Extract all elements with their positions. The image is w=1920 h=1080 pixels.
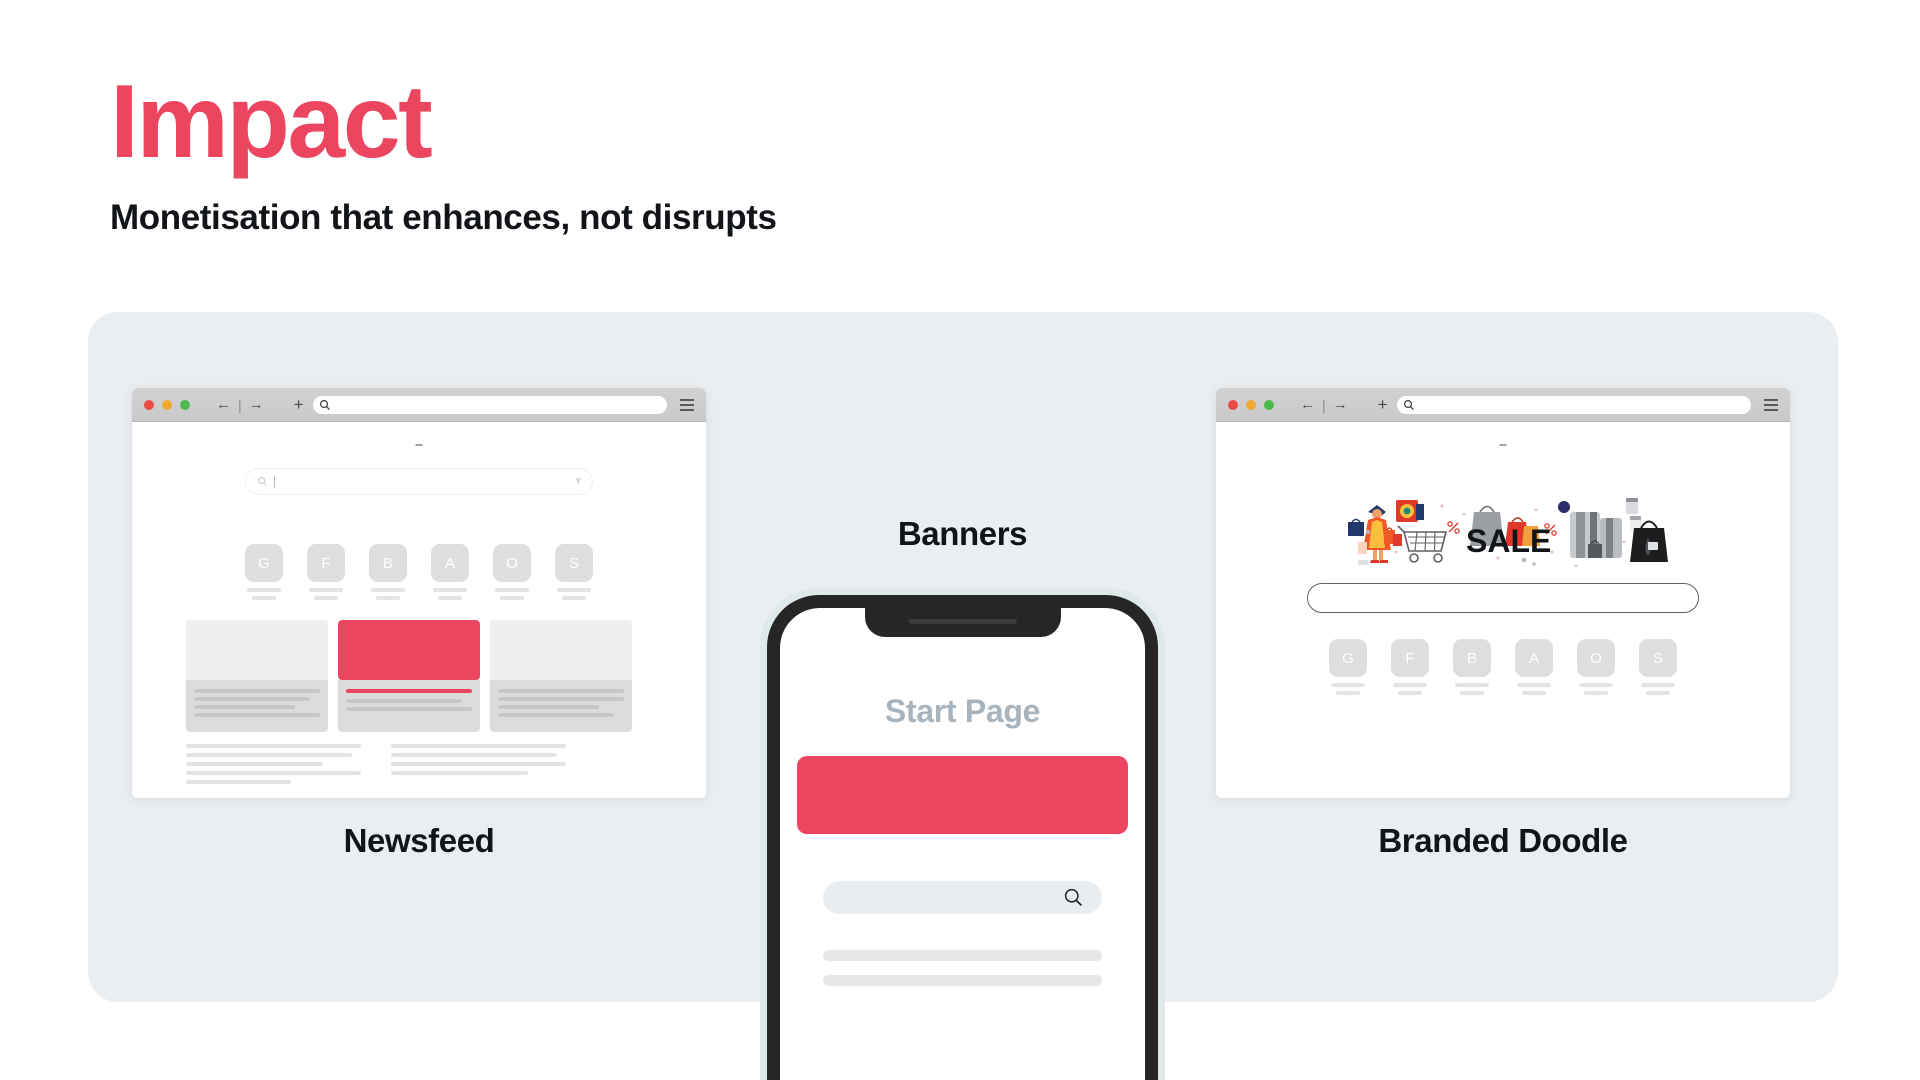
- tile-line: [438, 596, 462, 600]
- sponsored-accent-line: [346, 689, 472, 693]
- address-bar[interactable]: [1397, 396, 1751, 414]
- phone-start-page-title: Start Page: [780, 693, 1145, 730]
- card-text-line: [498, 705, 599, 709]
- tile-line: [1641, 683, 1675, 687]
- shortcut-tile[interactable]: O: [493, 544, 531, 600]
- shortcut-tile[interactable]: S: [1639, 639, 1677, 695]
- tile-line: [500, 596, 524, 600]
- card-text-line: [346, 707, 472, 711]
- phone-frame: Start Page: [767, 595, 1158, 1080]
- text-line: [391, 762, 566, 766]
- close-window-icon[interactable]: [1228, 400, 1238, 410]
- text-line: [186, 744, 361, 748]
- tile-letter: O: [1577, 639, 1615, 677]
- card-text-line: [194, 697, 310, 701]
- card-text-line: [194, 689, 320, 693]
- card-thumbnail: [490, 620, 632, 680]
- phone-mockup: Start Page: [760, 588, 1165, 1080]
- page-dash-marker: [416, 444, 423, 446]
- tile-letter: A: [1515, 639, 1553, 677]
- card-text-line: [498, 713, 614, 717]
- tile-letter: G: [1329, 639, 1367, 677]
- search-icon: [319, 399, 331, 411]
- maximize-window-icon[interactable]: [180, 400, 190, 410]
- nav-buttons: ← | →: [1300, 397, 1348, 412]
- tile-line: [247, 588, 281, 592]
- newsfeed-card-organic[interactable]: [490, 620, 632, 732]
- tile-line: [433, 588, 467, 592]
- phone-sponsored-banner[interactable]: [797, 756, 1128, 834]
- phone-placeholder-bars: [823, 950, 1102, 1000]
- card-thumbnail: [186, 620, 328, 680]
- slide-root: Impact Monetisation that enhances, not d…: [0, 0, 1920, 1080]
- nav-separator: |: [1322, 398, 1326, 412]
- tile-line: [1646, 691, 1670, 695]
- text-block: [186, 744, 361, 789]
- browser-chrome-right: ← | → +: [1216, 388, 1790, 422]
- tile-letter: F: [307, 544, 345, 582]
- text-line: [391, 771, 528, 775]
- phone-placeholder-bar: [823, 975, 1102, 986]
- shortcut-tile[interactable]: S: [555, 544, 593, 600]
- tile-letter: S: [555, 544, 593, 582]
- hamburger-icon[interactable]: [1764, 399, 1778, 411]
- shortcut-tiles-right: G F B A: [1329, 639, 1677, 695]
- address-bar[interactable]: [313, 396, 667, 414]
- tile-line: [1393, 683, 1427, 687]
- tile-line: [1584, 691, 1608, 695]
- newsfeed-cards: [186, 620, 632, 732]
- caption-banners: Banners: [760, 515, 1165, 553]
- sponsored-card-thumbnail: [338, 620, 480, 680]
- text-line: [186, 780, 291, 784]
- hamburger-icon[interactable]: [680, 399, 694, 411]
- search-icon: [257, 476, 268, 487]
- text-line: [186, 771, 361, 775]
- text-line: [391, 753, 557, 757]
- phone-screen: Start Page: [780, 608, 1145, 1080]
- text-line: [391, 744, 566, 748]
- tile-line: [1522, 691, 1546, 695]
- search-icon: [1063, 887, 1084, 908]
- tile-line: [371, 588, 405, 592]
- tile-letter: S: [1639, 639, 1677, 677]
- start-page-search-input[interactable]: [1307, 583, 1699, 613]
- browser-chrome-left: ← | → +: [132, 388, 706, 422]
- shortcut-tile[interactable]: G: [1329, 639, 1367, 695]
- text-line: [186, 753, 352, 757]
- tile-letter: O: [493, 544, 531, 582]
- tile-letter: B: [1453, 639, 1491, 677]
- tile-line: [1517, 683, 1551, 687]
- card-meta: [490, 680, 632, 732]
- tile-line: [1336, 691, 1360, 695]
- nav-buttons: ← | →: [216, 397, 264, 412]
- page-title: Impact: [110, 70, 777, 174]
- card-meta: [186, 680, 328, 732]
- tile-line: [557, 588, 591, 592]
- tile-line: [495, 588, 529, 592]
- shortcut-tile[interactable]: B: [369, 544, 407, 600]
- tile-line: [309, 588, 343, 592]
- tile-line: [1579, 683, 1613, 687]
- tile-line: [314, 596, 338, 600]
- newsfeed-browser-mockup: ← | → + ▾: [132, 388, 706, 798]
- phone-notch: [865, 608, 1061, 637]
- newsfeed-text-blocks: [186, 744, 566, 789]
- card-meta: [338, 680, 480, 732]
- start-page-search-input[interactable]: ▾: [245, 468, 593, 495]
- close-window-icon[interactable]: [144, 400, 154, 410]
- traffic-lights: [1228, 400, 1274, 410]
- tile-line: [562, 596, 586, 600]
- shortcut-tile[interactable]: F: [307, 544, 345, 600]
- tile-line: [1398, 691, 1422, 695]
- search-icon: [1403, 399, 1415, 411]
- forward-icon[interactable]: →: [1333, 397, 1348, 412]
- text-block: [391, 744, 566, 789]
- tile-letter: F: [1391, 639, 1429, 677]
- phone-placeholder-bar: [823, 950, 1102, 961]
- tile-letter: B: [369, 544, 407, 582]
- card-text-line: [194, 705, 295, 709]
- back-icon[interactable]: ←: [216, 397, 231, 412]
- shortcut-tile[interactable]: B: [1453, 639, 1491, 695]
- tile-line: [1331, 683, 1365, 687]
- new-tab-icon[interactable]: +: [1378, 396, 1388, 413]
- page-dash-marker: [1500, 444, 1507, 446]
- branded-doodle-browser-mockup: ← | → +: [1216, 388, 1790, 798]
- shortcut-tiles-left: G F B A: [245, 544, 593, 600]
- text-line: [186, 762, 323, 766]
- tile-line: [1460, 691, 1484, 695]
- shortcut-tile[interactable]: F: [1391, 639, 1429, 695]
- card-text-line: [346, 699, 462, 703]
- doodle-sale-text: SALE: [1466, 523, 1551, 559]
- forward-icon[interactable]: →: [249, 397, 264, 412]
- slide-header: Impact Monetisation that enhances, not d…: [110, 70, 777, 238]
- page-subtitle: Monetisation that enhances, not disrupts: [110, 198, 777, 238]
- traffic-lights: [144, 400, 190, 410]
- shortcut-tile[interactable]: O: [1577, 639, 1615, 695]
- branded-sale-doodle-icon[interactable]: SALE: [1338, 482, 1668, 574]
- card-text-line: [498, 697, 624, 701]
- newsfeed-viewport: ▾ G F B A: [132, 422, 706, 798]
- shortcut-tile[interactable]: A: [1515, 639, 1553, 695]
- minimize-window-icon[interactable]: [1246, 400, 1256, 410]
- tile-letter: A: [431, 544, 469, 582]
- newsfeed-card-sponsored[interactable]: [338, 620, 480, 732]
- card-text-line: [498, 689, 624, 693]
- tile-line: [252, 596, 276, 600]
- shortcut-tile[interactable]: G: [245, 544, 283, 600]
- newsfeed-card-organic[interactable]: [186, 620, 328, 732]
- tile-line: [376, 596, 400, 600]
- tile-line: [1455, 683, 1489, 687]
- caption-newsfeed: Newsfeed: [132, 822, 706, 860]
- maximize-window-icon[interactable]: [1264, 400, 1274, 410]
- caption-branded-doodle: Branded Doodle: [1216, 822, 1790, 860]
- new-tab-icon[interactable]: +: [294, 396, 304, 413]
- phone-search-input[interactable]: [823, 881, 1102, 914]
- shortcut-tile[interactable]: A: [431, 544, 469, 600]
- card-text-line: [194, 713, 320, 717]
- tile-letter: G: [245, 544, 283, 582]
- minimize-window-icon[interactable]: [162, 400, 172, 410]
- branded-doodle-viewport: SALE: [1216, 422, 1790, 798]
- chevron-down-icon[interactable]: ▾: [575, 476, 581, 487]
- nav-separator: |: [238, 398, 242, 412]
- back-icon[interactable]: ←: [1300, 397, 1315, 412]
- text-cursor: [274, 476, 275, 488]
